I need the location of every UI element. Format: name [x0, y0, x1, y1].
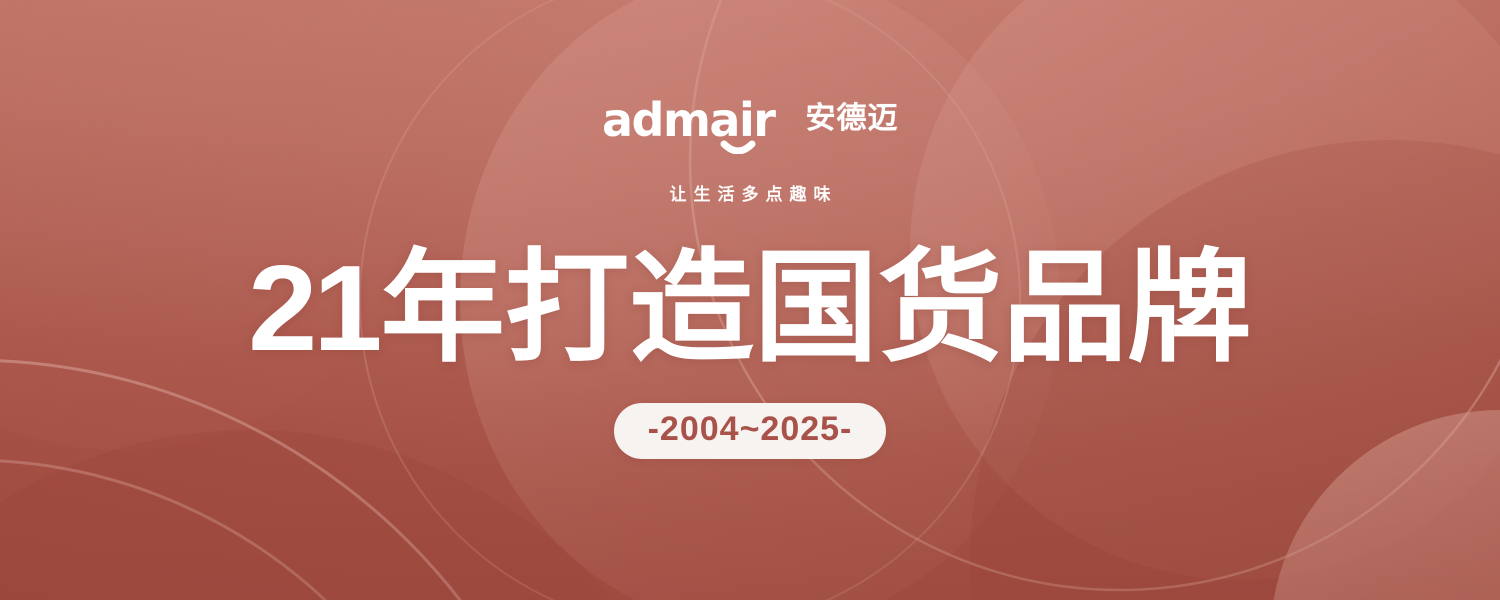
brand-tagline: 让生活多点趣味 [663, 180, 838, 205]
svg-text:admair: admair [602, 96, 776, 147]
brand-name-cn: 安德迈 [806, 96, 899, 142]
admair-wordmark-icon: admair [602, 96, 792, 154]
brand-logo: admair 安德迈 [602, 96, 899, 154]
headline-number: 21 [248, 240, 378, 376]
years-badge: -2004~2025- [614, 403, 887, 459]
headline-text: 年打造国货品牌 [381, 237, 1252, 379]
promo-banner: admair 安德迈 让生活多点趣味 21年打造国货品牌 -2004~2025- [0, 0, 1500, 600]
banner-content: admair 安德迈 让生活多点趣味 21年打造国货品牌 -2004~2025- [0, 0, 1500, 600]
headline: 21年打造国货品牌 [248, 247, 1251, 369]
